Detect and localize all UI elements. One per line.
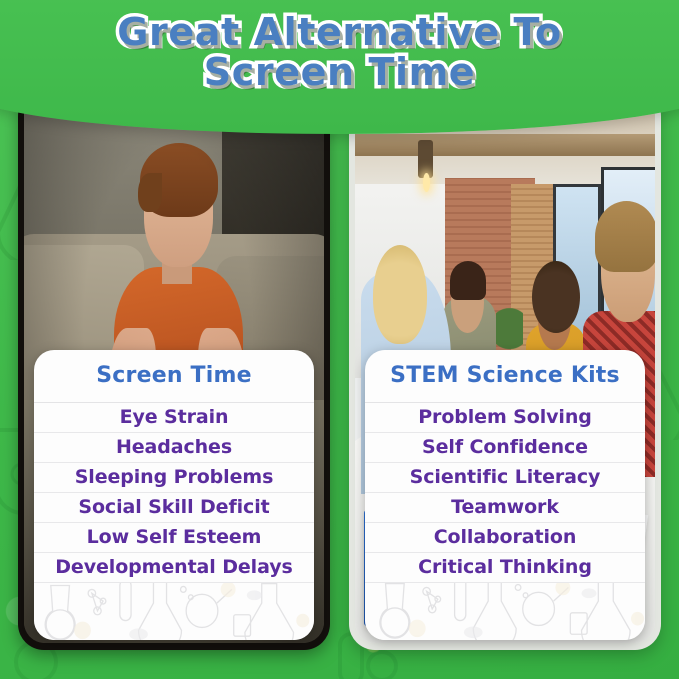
list-item: Critical Thinking <box>365 553 645 583</box>
girl-blonde-hair <box>373 245 427 345</box>
screen-time-card: Screen Time Eye Strain Headaches Sleepin… <box>34 350 314 640</box>
list-item: Low Self Esteem <box>34 523 314 553</box>
list-item: Eye Strain <box>34 403 314 433</box>
list-item: Collaboration <box>365 523 645 553</box>
page-title: Great Alternative To Screen Time <box>0 12 679 92</box>
list-item: Self Confidence <box>365 433 645 463</box>
list-item: Headaches <box>34 433 314 463</box>
list-item: Sleeping Problems <box>34 463 314 493</box>
boy-yellow-hair <box>532 261 580 333</box>
right-panel: STEM Science Kits Problem Solving Self C… <box>349 90 661 650</box>
screen-time-list: Eye Strain Headaches Sleeping Problems S… <box>34 402 314 583</box>
list-item: Scientific Literacy <box>365 463 645 493</box>
card-footer-science-art <box>34 583 314 640</box>
potted-plant <box>496 289 523 355</box>
light-bulb <box>423 173 430 192</box>
card-heading: STEM Science Kits <box>365 350 645 402</box>
list-item: Teamwork <box>365 493 645 523</box>
card-footer-science-art <box>365 583 645 640</box>
left-panel: Screen Time Eye Strain Headaches Sleepin… <box>18 90 330 650</box>
list-item: Problem Solving <box>365 403 645 433</box>
wooden-beam <box>355 134 655 156</box>
poster: Great Alternative To Screen Time <box>0 0 679 679</box>
list-item: Social Skill Deficit <box>34 493 314 523</box>
card-heading: Screen Time <box>34 350 314 402</box>
list-item: Developmental Delays <box>34 553 314 583</box>
boy-olive-hair <box>450 261 486 300</box>
stem-kits-card: STEM Science Kits Problem Solving Self C… <box>365 350 645 640</box>
stem-benefits-list: Problem Solving Self Confidence Scientif… <box>365 402 645 583</box>
girl-plaid-hair <box>595 201 655 273</box>
